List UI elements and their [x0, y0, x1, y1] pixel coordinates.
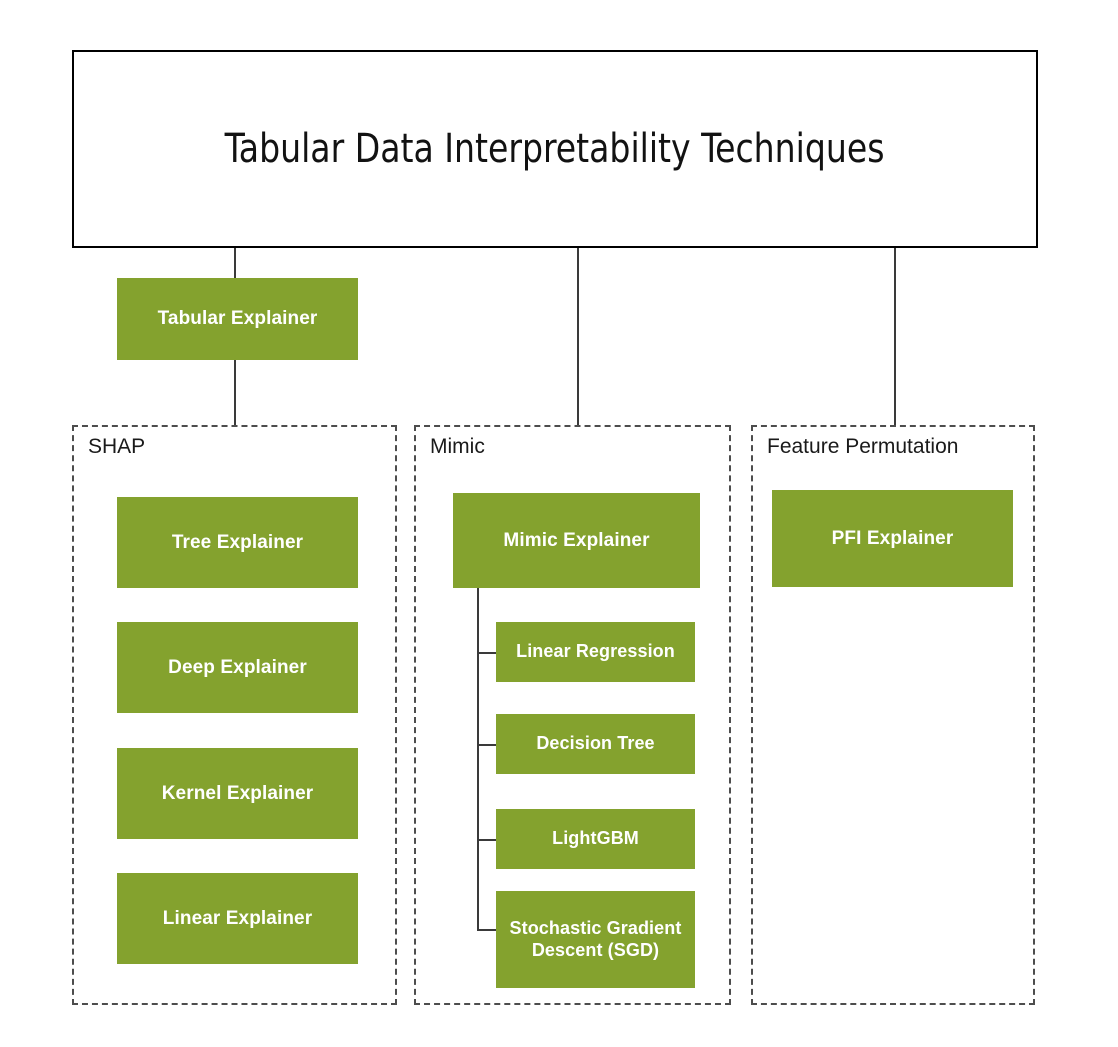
node-kernel-explainer[interactable]: Kernel Explainer: [117, 748, 358, 839]
connector-mimic-to-lightgbm: [477, 839, 497, 841]
group-feature-permutation-label: Feature Permutation: [767, 435, 958, 459]
node-tree-explainer[interactable]: Tree Explainer: [117, 497, 358, 588]
node-pfi-explainer[interactable]: PFI Explainer: [772, 490, 1013, 587]
connector-mimic-to-linear-regression: [477, 652, 497, 654]
node-stochastic-gradient-descent[interactable]: Stochastic Gradient Descent (SGD): [496, 891, 695, 988]
node-linear-explainer[interactable]: Linear Explainer: [117, 873, 358, 964]
connector-title-to-tabular-explainer: [234, 248, 236, 280]
connector-mimic-to-decision-tree: [477, 744, 497, 746]
connector-title-to-feature-permutation-group: [894, 248, 896, 426]
group-shap-label: SHAP: [88, 435, 145, 459]
node-decision-tree[interactable]: Decision Tree: [496, 714, 695, 774]
connector-mimic-to-sgd: [477, 929, 497, 931]
connector-title-to-mimic-group: [577, 248, 579, 426]
node-linear-regression[interactable]: Linear Regression: [496, 622, 695, 682]
diagram-title: Tabular Data Interpretability Techniques: [225, 126, 885, 172]
node-lightgbm[interactable]: LightGBM: [496, 809, 695, 869]
node-tabular-explainer[interactable]: Tabular Explainer: [117, 278, 358, 360]
node-mimic-explainer[interactable]: Mimic Explainer: [453, 493, 700, 588]
connector-tabular-explainer-to-shap-group: [234, 360, 236, 426]
group-mimic-label: Mimic: [430, 435, 485, 459]
diagram-canvas: Tabular Data Interpretability Techniques…: [0, 0, 1118, 1047]
connector-mimic-trunk: [477, 588, 479, 930]
node-deep-explainer[interactable]: Deep Explainer: [117, 622, 358, 713]
diagram-title-box: Tabular Data Interpretability Techniques: [72, 50, 1038, 248]
